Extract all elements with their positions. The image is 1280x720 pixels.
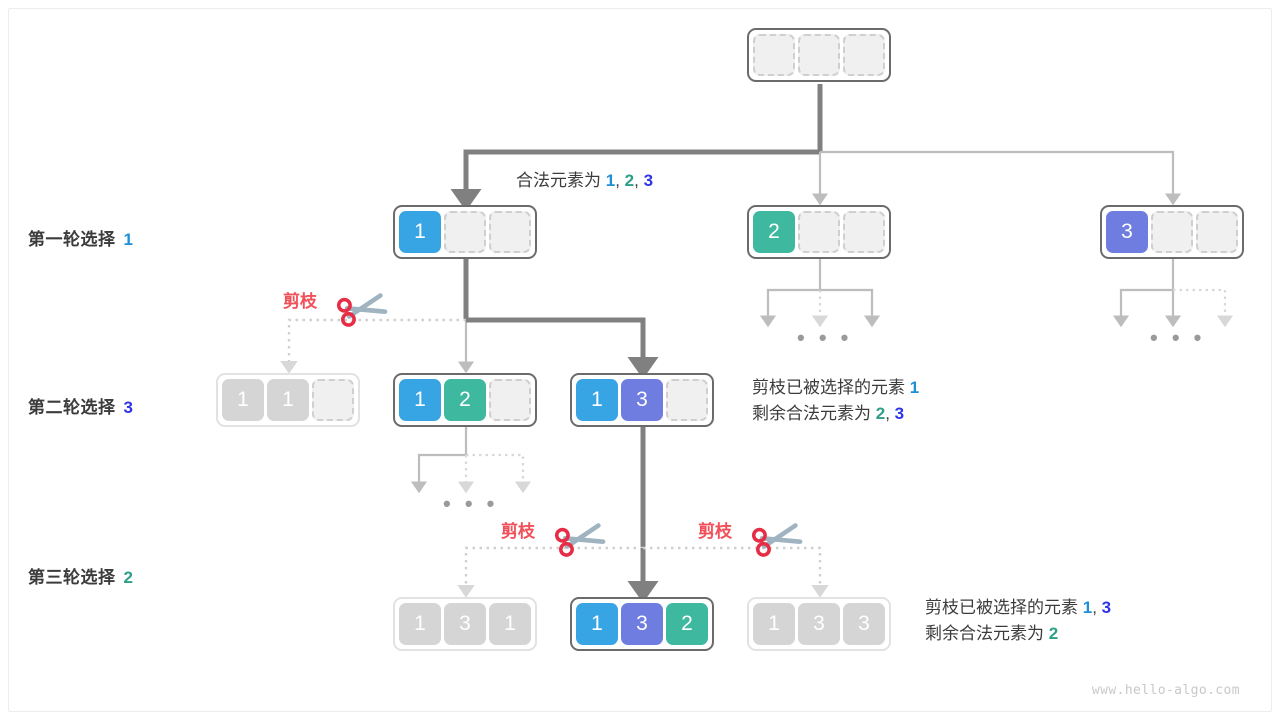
round3-note-line1-value-1: 1 xyxy=(1083,598,1092,617)
legal-element-value-3: 3 xyxy=(644,171,653,190)
node-1-3-cell-0: 1 xyxy=(576,379,618,421)
root-cell-1 xyxy=(798,34,840,76)
round3-note-line1: 剪枝已被选择的元素 1, 3 xyxy=(925,595,1111,621)
node-1-3-2-cell-2: 2 xyxy=(666,603,708,645)
node-3-cell-1 xyxy=(1151,211,1193,253)
node-1-1-cell-1: 1 xyxy=(267,379,309,421)
round-label-2-value: 3 xyxy=(124,398,134,417)
node-1-3-2-cell-0: 1 xyxy=(576,603,618,645)
round2-note-line2: 剩余合法元素为 2, 3 xyxy=(752,401,919,427)
round2-note-line1-value-1: 1 xyxy=(910,378,919,397)
round-label-1-value: 1 xyxy=(124,230,134,249)
node-1-3-2-cell-1: 3 xyxy=(621,603,663,645)
tree-node-1-3-3[interactable]: 133 xyxy=(747,597,891,651)
tree-node-root[interactable] xyxy=(747,28,891,82)
watermark: www.hello-algo.com xyxy=(1092,683,1240,698)
round2-note: 剪枝已被选择的元素 1 剩余合法元素为 2, 3 xyxy=(752,375,919,427)
node-1-3-1-cell-0: 1 xyxy=(399,603,441,645)
node-1-3-3-cell-0: 1 xyxy=(753,603,795,645)
node-1-3-3-cell-2: 3 xyxy=(843,603,885,645)
ellipsis-under-node-2: • • • xyxy=(797,325,852,351)
round2-note-line1: 剪枝已被选择的元素 1 xyxy=(752,375,919,401)
node-1-2-cell-0: 1 xyxy=(399,379,441,421)
node-1-3-1-cell-1: 3 xyxy=(444,603,486,645)
tree-node-1-3-2[interactable]: 132 xyxy=(570,597,714,651)
tree-node-1[interactable]: 1 xyxy=(393,205,537,259)
round-label-1: 第一轮选择1 xyxy=(28,225,133,250)
round-label-1-text: 第一轮选择 xyxy=(28,230,116,249)
legal-elements-annotation: 合法元素为 1, 2, 3 xyxy=(516,168,653,194)
round3-note-line2-prefix: 剩余合法元素为 xyxy=(925,624,1044,643)
node-1-2-cell-2 xyxy=(489,379,531,421)
round-label-3-text: 第三轮选择 xyxy=(28,568,116,587)
legal-elements-prefix: 合法元素为 xyxy=(516,171,601,190)
tree-node-1-2[interactable]: 12 xyxy=(393,373,537,427)
legal-element-value-2: 2 xyxy=(625,171,634,190)
root-cell-2 xyxy=(843,34,885,76)
round-label-3: 第三轮选择2 xyxy=(28,563,133,588)
tree-node-1-3[interactable]: 13 xyxy=(570,373,714,427)
node-2-cell-1 xyxy=(798,211,840,253)
node-1-1-cell-2 xyxy=(312,379,354,421)
node-2-cell-2 xyxy=(843,211,885,253)
round3-note-line1-value-2: 3 xyxy=(1102,598,1111,617)
ellipsis-under-node-1-2: • • • xyxy=(443,491,498,517)
round3-note-line2: 剩余合法元素为 2 xyxy=(925,621,1111,647)
node-1-cell-0: 1 xyxy=(399,211,441,253)
node-3-cell-0: 3 xyxy=(1106,211,1148,253)
round-label-2-text: 第二轮选择 xyxy=(28,398,116,417)
round3-note-line2-value-1: 2 xyxy=(1049,624,1058,643)
node-1-3-3-cell-1: 3 xyxy=(798,603,840,645)
prune-label-2: 剪枝 xyxy=(501,517,535,542)
prune-label-1: 剪枝 xyxy=(283,287,317,312)
round-label-3-value: 2 xyxy=(124,568,134,587)
node-2-cell-0: 2 xyxy=(753,211,795,253)
tree-node-1-3-1[interactable]: 131 xyxy=(393,597,537,651)
node-1-cell-1 xyxy=(444,211,486,253)
legal-element-value-1: 1 xyxy=(606,171,615,190)
root-cell-0 xyxy=(753,34,795,76)
round-label-2: 第二轮选择3 xyxy=(28,393,133,418)
node-1-1-cell-0: 1 xyxy=(222,379,264,421)
round2-note-line2-value-1: 2 xyxy=(876,404,885,423)
round2-note-line2-prefix: 剩余合法元素为 xyxy=(752,404,871,423)
node-1-cell-2 xyxy=(489,211,531,253)
prune-label-3: 剪枝 xyxy=(698,517,732,542)
round2-note-line1-prefix: 剪枝已被选择的元素 xyxy=(752,378,905,397)
node-1-2-cell-1: 2 xyxy=(444,379,486,421)
node-1-3-cell-2 xyxy=(666,379,708,421)
tree-node-3[interactable]: 3 xyxy=(1100,205,1244,259)
tree-node-1-1[interactable]: 11 xyxy=(216,373,360,427)
node-1-3-cell-1: 3 xyxy=(621,379,663,421)
ellipsis-under-node-3: • • • xyxy=(1150,325,1205,351)
node-3-cell-2 xyxy=(1196,211,1238,253)
diagram-canvas: 第一轮选择1 第二轮选择3 第三轮选择2 1 2 3 11 12 13 131 … xyxy=(0,0,1280,720)
round3-note-line1-prefix: 剪枝已被选择的元素 xyxy=(925,598,1078,617)
tree-node-2[interactable]: 2 xyxy=(747,205,891,259)
round2-note-line2-value-2: 3 xyxy=(895,404,904,423)
round3-note: 剪枝已被选择的元素 1, 3 剩余合法元素为 2 xyxy=(925,595,1111,647)
node-1-3-1-cell-2: 1 xyxy=(489,603,531,645)
